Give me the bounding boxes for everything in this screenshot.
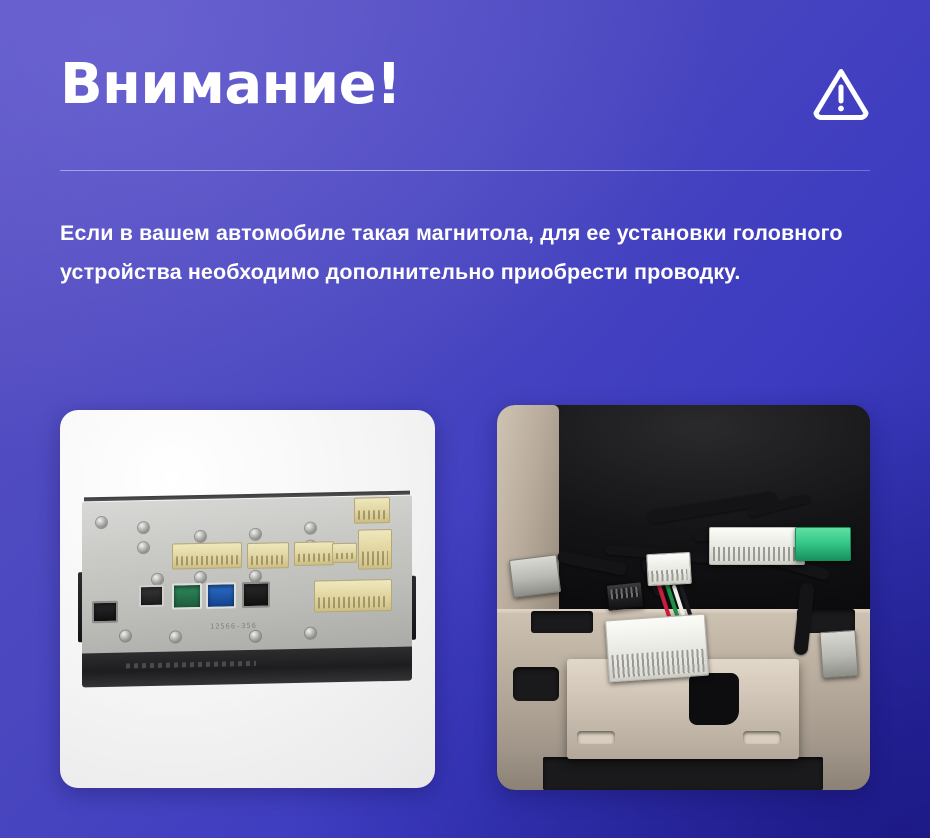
head-unit-base [82,647,412,688]
chassis-screw [152,574,163,585]
chassis-label: 12566-356 [210,622,257,631]
black-port [92,601,118,624]
chassis-screw [195,531,206,542]
car-head-unit-rear-photo: 12566-356 [60,410,435,788]
head-unit-illustration: 12566-356 [82,498,412,688]
dashboard-wiring-harness-photo [497,405,870,790]
chassis-screw [138,542,149,553]
chassis-screw [96,517,107,528]
beige-connector [314,579,392,613]
head-unit-chassis: 12566-356 [82,495,412,662]
chassis-screw [138,522,149,533]
gray-connector [509,554,561,598]
white-connector-large [709,527,805,565]
gray-port [139,585,164,608]
chassis-screw [170,631,181,642]
beige-connector [354,497,390,524]
shelf-slot [743,731,781,744]
black-port [242,582,270,609]
chassis-screw [305,523,316,534]
page-title: Внимание! [60,56,401,115]
chassis-screw [250,571,261,582]
chassis-screw [120,630,131,641]
warning-slide: Внимание! Если в вашем автомобиле такая … [0,0,930,838]
beige-connector [332,543,357,564]
beige-connector [358,529,392,570]
chassis-screw [250,631,261,642]
white-connector-main [605,614,709,683]
trim-slot [513,667,559,701]
slide-header: Внимание! [60,58,870,136]
green-port [172,583,202,610]
chassis-screw [250,529,261,540]
white-connector [646,552,692,586]
blue-port [206,582,236,609]
warning-paragraph: Если в вашем автомобиле такая магнитола,… [60,214,878,292]
black-connector [606,581,645,611]
green-connector [795,527,851,561]
shelf-cutout [689,673,739,725]
header-divider [60,170,870,171]
warning-triangle-icon [812,67,870,121]
beige-connector [247,542,289,569]
gray-connector [819,630,858,678]
beige-connector [294,541,334,566]
shelf-slot [577,731,615,744]
beige-connector [172,542,242,569]
chassis-screw [195,572,206,583]
dashboard-scene [497,405,870,790]
trim-slot [543,757,823,790]
chassis-screw [305,628,316,639]
trim-slot [531,611,593,633]
